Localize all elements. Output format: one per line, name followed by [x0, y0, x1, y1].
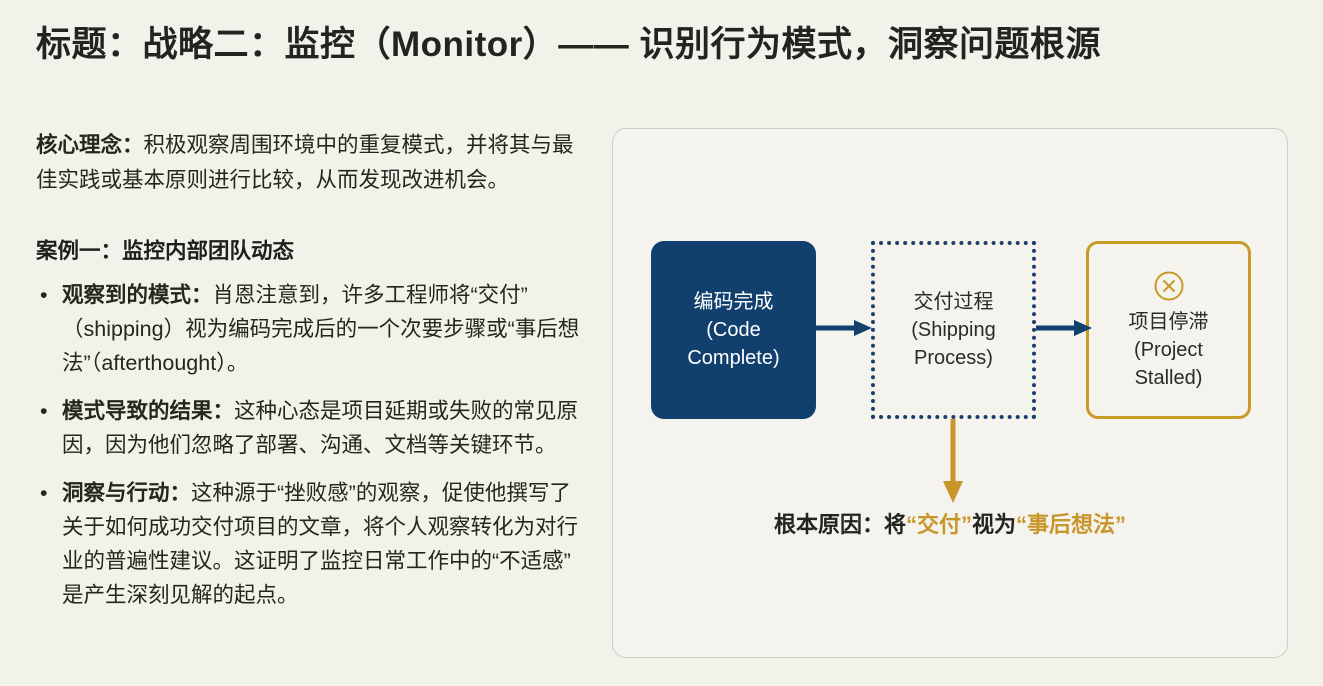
x-circle-icon: [1152, 269, 1186, 303]
flow-node-line-3: Complete): [687, 344, 779, 372]
root-cause-caption: 根本原因：将“交付”视为“事后想法”: [613, 507, 1287, 539]
root-cause-label: 根本原因：将: [774, 512, 906, 537]
case-study-bullet-list: • 观察到的模式：肖恩注意到，许多工程师将“交付”（shipping）视为编码完…: [36, 278, 581, 612]
flow-node-shipping-process: 交付过程 (Shipping Process): [871, 241, 1036, 419]
flow-node-line-3: Stalled): [1135, 364, 1203, 392]
flow-node-line-2: (Project: [1134, 336, 1203, 364]
root-cause-highlight-1: “交付”: [906, 512, 972, 537]
list-item: • 洞察与行动：这种源于“挫败感”的观察，促使他撰写了关于如何成功交付项目的文章…: [36, 476, 581, 612]
core-concept-lead: 核心理念：: [36, 133, 144, 157]
flow-node-line-1: 编码完成: [694, 288, 774, 316]
list-item-lead: 洞察与行动：: [62, 481, 191, 505]
list-item: • 模式导致的结果：这种心态是项目延期或失败的常见原因，因为他们忽略了部署、沟通…: [36, 394, 581, 462]
diagram-panel: 编码完成 (Code Complete) 交付过程 (Shipping Proc…: [612, 128, 1288, 658]
list-item-lead: 模式导致的结果：: [62, 399, 234, 423]
bullet-marker-icon: •: [40, 476, 48, 510]
page-title: 标题：战略二：监控（Monitor）—— 识别行为模式，洞察问题根源: [36, 16, 1296, 67]
flow-node-line-1: 项目停滞: [1129, 308, 1209, 336]
root-cause-middle: 视为: [972, 512, 1016, 537]
core-concept-paragraph: 核心理念：积极观察周围环境中的重复模式，并将其与最佳实践或基本原则进行比较，从而…: [36, 128, 581, 198]
root-cause-highlight-2: “事后想法”: [1016, 512, 1126, 537]
arrow-shipping-to-stalled-icon: [1036, 317, 1094, 339]
flow-node-line-1: 交付过程: [914, 288, 994, 316]
flow-node-line-2: (Shipping: [911, 316, 996, 344]
arrow-code-to-shipping-icon: [816, 317, 874, 339]
list-item: • 观察到的模式：肖恩注意到，许多工程师将“交付”（shipping）视为编码完…: [36, 278, 581, 380]
arrow-shipping-to-root-cause-icon: [935, 419, 971, 505]
left-content-column: 核心理念：积极观察周围环境中的重复模式，并将其与最佳实践或基本原则进行比较，从而…: [36, 128, 581, 612]
flow-node-code-complete: 编码完成 (Code Complete): [651, 241, 816, 419]
flow-node-project-stalled: 项目停滞 (Project Stalled): [1086, 241, 1251, 419]
bullet-marker-icon: •: [40, 394, 48, 428]
flow-row: 编码完成 (Code Complete) 交付过程 (Shipping Proc…: [613, 241, 1287, 419]
bullet-marker-icon: •: [40, 278, 48, 312]
flow-node-line-3: Process): [914, 344, 993, 372]
flow-node-line-2: (Code: [706, 316, 760, 344]
case-study-heading: 案例一：监控内部团队动态: [36, 236, 581, 266]
list-item-lead: 观察到的模式：: [62, 283, 213, 307]
